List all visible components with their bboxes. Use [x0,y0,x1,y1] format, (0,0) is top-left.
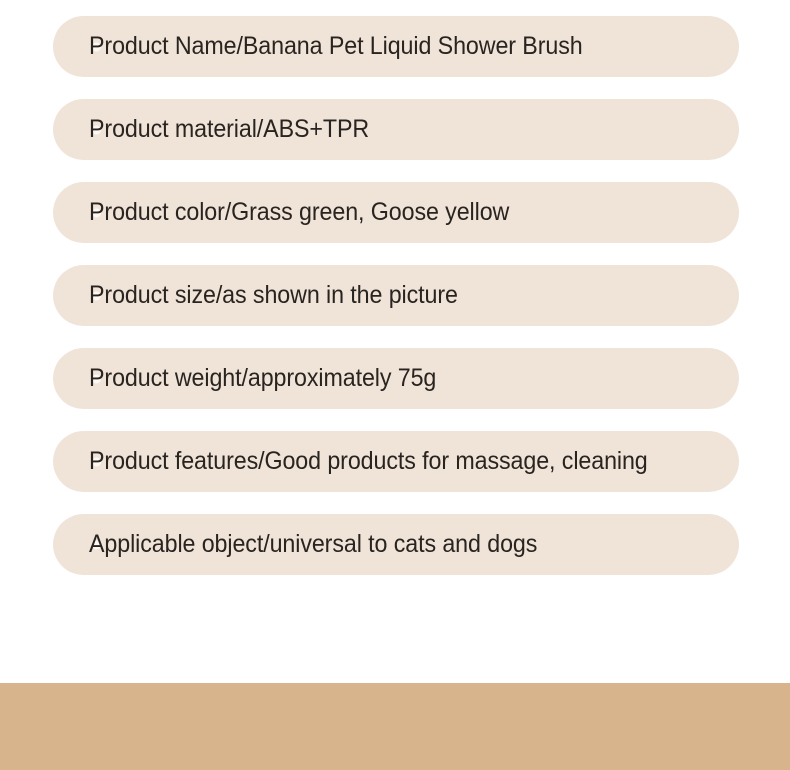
spec-item-label: Product color/Grass green, Goose yellow [89,199,509,227]
spec-item-label: Product weight/approximately 75g [89,365,436,393]
list-item: Product material/ABS+TPR [53,99,739,160]
spec-item-label: Applicable object/universal to cats and … [89,531,537,559]
spec-item-label: Product material/ABS+TPR [89,116,369,144]
list-item: Product weight/approximately 75g [53,348,739,409]
list-item: Product features/Good products for massa… [53,431,739,492]
spec-sheet: Product Name/Banana Pet Liquid Shower Br… [0,0,790,683]
list-item: Applicable object/universal to cats and … [53,514,739,575]
spec-item-label: Product Name/Banana Pet Liquid Shower Br… [89,33,583,61]
list-item: Product color/Grass green, Goose yellow [53,182,739,243]
list-item: Product size/as shown in the picture [53,265,739,326]
spec-item-label: Product features/Good products for massa… [89,448,648,476]
spec-list: Product Name/Banana Pet Liquid Shower Br… [0,16,790,575]
list-item: Product Name/Banana Pet Liquid Shower Br… [53,16,739,77]
footer-color-band [0,683,790,770]
spec-item-label: Product size/as shown in the picture [89,282,458,310]
